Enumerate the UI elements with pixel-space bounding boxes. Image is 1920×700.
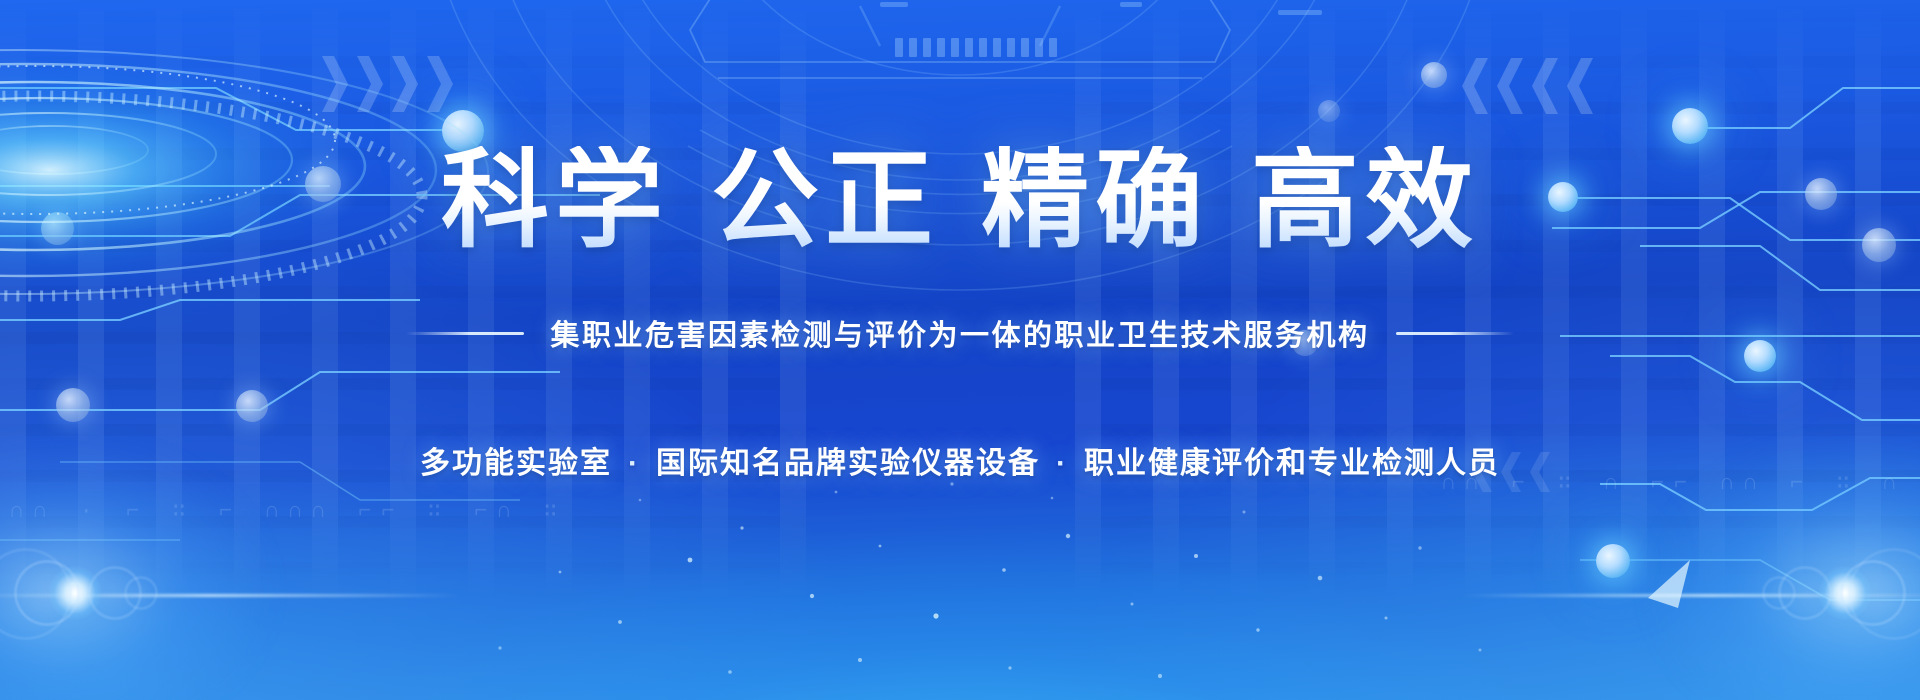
subtitle-rule-left bbox=[406, 332, 524, 335]
banner-tagline: 多功能实验室·国际知名品牌实验仪器设备·职业健康评价和专业检测人员 bbox=[420, 438, 1500, 482]
headline-word-2: 公正 bbox=[711, 139, 939, 260]
banner-subtitle-row: 集职业危害因素检测与评价为一体的职业卫生技术服务机构 bbox=[406, 312, 1513, 354]
headline-word-3: 精确 bbox=[981, 139, 1209, 260]
tagline-item-1: 多功能实验室 bbox=[420, 447, 612, 480]
banner-headline: 科学公正精确高效 bbox=[441, 146, 1479, 254]
subtitle-rule-right bbox=[1396, 332, 1514, 335]
hero-banner: ∩∩ · ⌐ ∷ ⌐ ∩∩∩ ⌐⌐ ∷ ⌐∩ ∷ ∩∩ ⌐ ∷ ∩ ⌐⌐ ∩∩ … bbox=[0, 0, 1920, 700]
headline-word-1: 科学 bbox=[441, 139, 669, 260]
tagline-item-3: 职业健康评价和专业检测人员 bbox=[1084, 447, 1500, 480]
headline-word-4: 高效 bbox=[1251, 139, 1479, 260]
tagline-separator: · bbox=[1040, 447, 1084, 481]
banner-content: 科学公正精确高效 集职业危害因素检测与评价为一体的职业卫生技术服务机构 多功能实… bbox=[0, 0, 1920, 700]
tagline-item-2: 国际知名品牌实验仪器设备 bbox=[656, 447, 1040, 480]
banner-subtitle: 集职业危害因素检测与评价为一体的职业卫生技术服务机构 bbox=[550, 312, 1369, 354]
tagline-separator: · bbox=[612, 447, 656, 481]
